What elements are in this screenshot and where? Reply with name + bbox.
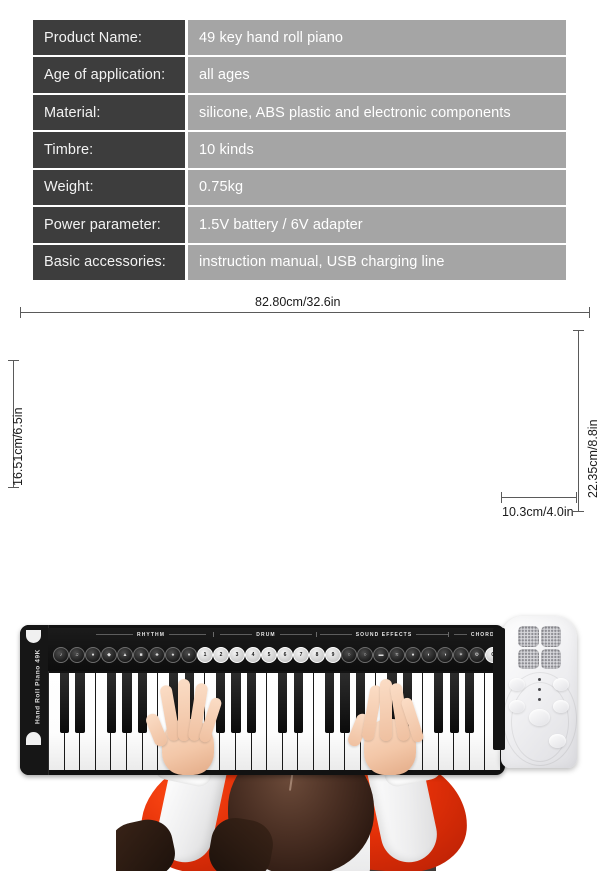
panel-button-7[interactable]: ♠ — [165, 647, 181, 663]
spec-value: 0.75kg — [188, 170, 566, 205]
panel-button-glyph-icon: ✶ — [459, 652, 463, 658]
speaker-button-mid-left[interactable] — [509, 700, 525, 713]
panel-button-21[interactable]: ≈ — [389, 647, 405, 663]
black-key[interactable] — [75, 673, 84, 733]
panel-button-glyph-icon: ◐ — [427, 652, 430, 658]
spec-row: Age of application:all ages — [33, 57, 566, 92]
panel-button-18[interactable]: ○ — [341, 647, 357, 663]
panel-button-glyph-icon: ≈ — [396, 652, 399, 658]
spec-value: instruction manual, USB charging line — [188, 245, 566, 280]
panel-button-glyph-icon: ● — [91, 652, 94, 658]
panel-button-26[interactable]: ⚙ — [469, 647, 485, 663]
spec-row: Timbre:10 kinds — [33, 132, 566, 167]
panel-button-glyph-icon: 3 — [236, 652, 239, 658]
panel-button-2[interactable]: ● — [85, 647, 101, 663]
spec-label: Weight: — [33, 170, 185, 205]
speaker-button-top-right[interactable] — [553, 678, 569, 691]
speaker-grille-icon — [518, 626, 561, 669]
panel-button-glyph-icon: ⚙ — [475, 652, 479, 658]
spec-row: Basic accessories:instruction manual, US… — [33, 245, 566, 280]
panel-button-glyph-icon: 7 — [300, 652, 303, 658]
panel-button-glyph-icon: ♪ — [60, 652, 63, 658]
roll-notch-bottom — [26, 732, 41, 745]
panel-button-16[interactable]: 8 — [309, 647, 325, 663]
led-indicator — [538, 688, 541, 691]
dimension-tick-speaker-top — [573, 330, 584, 331]
section-rule — [280, 634, 312, 635]
panel-button-14[interactable]: 6 — [277, 647, 293, 663]
black-key[interactable] — [278, 673, 287, 733]
section-rule — [320, 634, 352, 635]
dimension-tick-width-right — [589, 307, 590, 318]
panel-button-22[interactable]: ● — [405, 647, 421, 663]
spec-row: Weight:0.75kg — [33, 170, 566, 205]
led-indicator — [538, 698, 541, 701]
spec-label: Age of application: — [33, 57, 185, 92]
black-key[interactable] — [60, 673, 69, 733]
panel-button-glyph-icon: ■ — [139, 652, 142, 658]
grille-quadrant — [518, 649, 539, 670]
panel-button-glyph-icon: ▲ — [123, 652, 128, 658]
panel-button-glyph-icon: ▬ — [379, 652, 384, 658]
panel-button-4[interactable]: ▲ — [117, 647, 133, 663]
dimension-line-speaker-width — [501, 497, 577, 498]
dimension-line-width — [20, 312, 590, 313]
panel-button-5[interactable]: ■ — [133, 647, 149, 663]
panel-button-glyph-icon: 6 — [284, 652, 287, 658]
piano-keys[interactable] — [49, 673, 501, 770]
hand-left — [148, 679, 226, 775]
panel-button-glyph-icon: ◑ — [443, 652, 446, 658]
panel-button-8[interactable]: ♦ — [181, 647, 197, 663]
spec-label: Basic accessories: — [33, 245, 185, 280]
black-key[interactable] — [247, 673, 256, 733]
spec-row: Material:silicone, ABS plastic and elect… — [33, 95, 566, 130]
speaker-button-center[interactable] — [529, 709, 550, 726]
black-key[interactable] — [325, 673, 334, 733]
dimension-tick-speaker-left — [501, 492, 502, 503]
black-key[interactable] — [107, 673, 116, 733]
spec-label: Timbre: — [33, 132, 185, 167]
piano-left-edge: Hand Roll Piano 49K — [20, 625, 49, 775]
black-key[interactable] — [138, 673, 147, 733]
spec-value: 49 key hand roll piano — [188, 20, 566, 55]
dimension-label-keyboard-height: 16.51cm/6.5in — [11, 407, 25, 486]
panel-button-glyph-icon: ○ — [363, 652, 366, 658]
hand-right — [350, 679, 428, 775]
panel-button-glyph-icon: 2 — [220, 652, 223, 658]
black-key[interactable] — [465, 673, 474, 733]
dimension-tick-speaker-bottom — [573, 511, 584, 512]
panel-button-20[interactable]: ▬ — [373, 647, 389, 663]
panel-button-11[interactable]: 3 — [229, 647, 245, 663]
panel-button-row[interactable]: ♪♫●◆▲■♣♠♦123456789○○▬≈●◐◑✶⚙CD−≡☰ — [50, 643, 501, 667]
panel-button-glyph-icon: ♦ — [188, 652, 191, 658]
panel-button-19[interactable]: ○ — [357, 647, 373, 663]
panel-button-glyph-icon: 9 — [332, 652, 335, 658]
panel-button-glyph-icon: ● — [411, 652, 414, 658]
panel-button-15[interactable]: 7 — [293, 647, 309, 663]
black-key[interactable] — [340, 673, 349, 733]
panel-button-13[interactable]: 5 — [261, 647, 277, 663]
black-key[interactable] — [434, 673, 443, 733]
speaker-button-mid-right[interactable] — [553, 700, 569, 713]
led-indicator — [538, 678, 541, 681]
spec-row: Power parameter:1.5V battery / 6V adapte… — [33, 207, 566, 242]
section-rule — [96, 634, 133, 635]
panel-section-sound-effects: SOUND EFFECTS — [320, 630, 448, 639]
black-key[interactable] — [450, 673, 459, 733]
section-divider-tick — [213, 632, 214, 637]
grille-quadrant — [541, 649, 562, 670]
section-divider-tick — [316, 632, 317, 637]
panel-button-24[interactable]: ◑ — [437, 647, 453, 663]
grille-quadrant — [541, 626, 562, 647]
black-key[interactable] — [294, 673, 303, 733]
dimension-tick-keyboard-top — [8, 360, 19, 361]
panel-section-rhythm: RHYTHM — [96, 630, 206, 639]
section-rule — [416, 634, 448, 635]
section-rule — [454, 634, 467, 635]
speaker-button-bottom-right[interactable] — [549, 734, 566, 748]
panel-button-glyph-icon: 8 — [316, 652, 319, 658]
spec-value: 1.5V battery / 6V adapter — [188, 207, 566, 242]
dimension-tick-speaker-right — [576, 492, 577, 503]
product-figure: 82.80cm/32.6in 16.51cm/6.5in 22.35cm/8.8… — [0, 286, 600, 585]
section-name: SOUND EFFECTS — [352, 632, 417, 638]
panel-button-glyph-icon: ♣ — [155, 652, 158, 658]
panel-section-labels: RHYTHMDRUMSOUND EFFECTSCHORDSLEARNING — [48, 630, 503, 639]
panel-button-23[interactable]: ◐ — [421, 647, 437, 663]
dimension-tick-width-left — [20, 307, 21, 318]
spec-table: Product Name:49 key hand roll pianoAge o… — [33, 20, 566, 280]
section-name: RHYTHM — [133, 632, 169, 638]
panel-button-glyph-icon: 5 — [268, 652, 271, 658]
section-name: DRUM — [252, 632, 279, 638]
section-rule — [169, 634, 206, 635]
panel-button-glyph-icon: ♫ — [75, 652, 79, 658]
black-key[interactable] — [122, 673, 131, 733]
dimension-label-total-width: 82.80cm/32.6in — [255, 295, 340, 309]
panel-button-6[interactable]: ♣ — [149, 647, 165, 663]
panel-button-glyph-icon: 1 — [204, 652, 207, 658]
panel-button-glyph-icon: ◆ — [107, 652, 111, 658]
grille-quadrant — [518, 626, 539, 647]
speaker-module[interactable] — [501, 616, 577, 768]
panel-button-1[interactable]: ♫ — [69, 647, 85, 663]
spec-value: 10 kinds — [188, 132, 566, 167]
panel-button-17[interactable]: 9 — [325, 647, 341, 663]
section-divider-tick — [448, 632, 449, 637]
spec-row: Product Name:49 key hand roll piano — [33, 20, 566, 55]
panel-button-glyph-icon: 4 — [252, 652, 255, 658]
panel-button-9[interactable]: 1 — [197, 647, 213, 663]
panel-button-0[interactable]: ♪ — [53, 647, 69, 663]
spec-label: Material: — [33, 95, 185, 130]
section-rule — [220, 634, 252, 635]
spec-value: all ages — [188, 57, 566, 92]
spec-value: silicone, ABS plastic and electronic com… — [188, 95, 566, 130]
panel-button-10[interactable]: 2 — [213, 647, 229, 663]
dimension-tick-keyboard-bottom — [8, 487, 19, 488]
panel-button-glyph-icon: ○ — [347, 652, 350, 658]
panel-button-25[interactable]: ✶ — [453, 647, 469, 663]
panel-button-3[interactable]: ◆ — [101, 647, 117, 663]
spec-label: Power parameter: — [33, 207, 185, 242]
black-key[interactable] — [231, 673, 240, 733]
dimension-line-speaker-height — [578, 330, 579, 512]
dimension-label-speaker-height: 22.35cm/8.8in — [586, 419, 600, 498]
speaker-button-top-left[interactable] — [509, 678, 525, 691]
panel-button-glyph-icon: ♠ — [172, 652, 175, 658]
panel-section-drum: DRUM — [220, 630, 312, 639]
brand-label: Hand Roll Piano 49K — [35, 641, 42, 733]
panel-button-12[interactable]: 4 — [245, 647, 261, 663]
roll-piano[interactable]: Hand Roll Piano 49K RHYTHMDRUMSOUND EFFE… — [20, 625, 505, 775]
control-panel[interactable]: RHYTHMDRUMSOUND EFFECTSCHORDSLEARNING ♪♫… — [48, 628, 503, 671]
dimension-label-speaker-width: 10.3cm/4.0in — [502, 505, 574, 519]
speaker-connector — [493, 628, 505, 750]
spec-label: Product Name: — [33, 20, 185, 55]
